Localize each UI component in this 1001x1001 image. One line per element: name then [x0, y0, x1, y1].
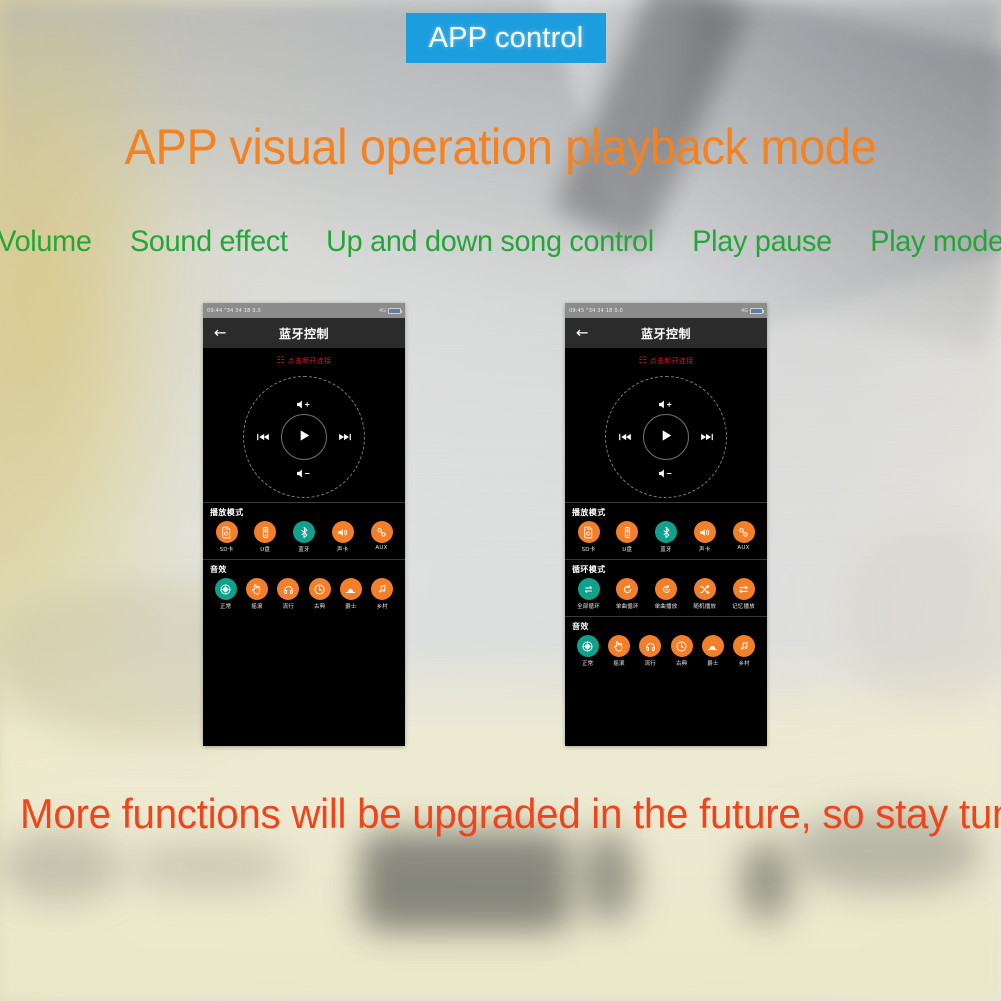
- mode-option-label: 正常: [220, 602, 231, 610]
- mode-option-label: 单曲播放: [655, 602, 678, 610]
- next-track-button[interactable]: [700, 432, 714, 442]
- mode-option[interactable]: 蓝牙: [288, 521, 321, 553]
- mode-option[interactable]: 古典: [666, 635, 697, 667]
- status-bar: 09:45 "34 34 18 0.04G: [565, 303, 767, 318]
- mode-option[interactable]: SD卡: [572, 521, 605, 553]
- mode-option-label: 古典: [676, 659, 687, 667]
- rock-icon[interactable]: [246, 578, 268, 600]
- play-mode-section: 播放模式SD卡U盘蓝牙声卡AUX: [203, 502, 405, 559]
- play-pause-button[interactable]: [297, 428, 312, 446]
- footnote-text: More functions will be upgraded in the f…: [20, 790, 1001, 837]
- pop-icon[interactable]: [277, 578, 299, 600]
- jazz-icon[interactable]: [702, 635, 724, 657]
- country-icon[interactable]: [371, 578, 393, 600]
- sound-card-icon[interactable]: [694, 521, 716, 543]
- mode-option-label: 流行: [645, 659, 656, 667]
- mode-option[interactable]: U盘: [611, 521, 644, 553]
- footnote: More functions will be upgraded in the f…: [20, 790, 981, 838]
- sound-effect-section: 音效正常摇滚流行古典爵士乡村: [203, 559, 405, 616]
- aux-cable-icon[interactable]: [733, 521, 755, 543]
- sd-card-icon[interactable]: [578, 521, 600, 543]
- mode-option[interactable]: 蓝牙: [650, 521, 683, 553]
- aux-cable-icon[interactable]: [371, 521, 393, 543]
- mode-option-label: 声卡: [337, 545, 348, 553]
- mode-option-label: SD卡: [220, 545, 234, 553]
- bluetooth-icon: ☷: [639, 357, 647, 366]
- app-control-badge-label: APP control: [429, 22, 584, 55]
- mode-option-label: AUX: [375, 545, 387, 551]
- icon-row: 全部循环单曲循环单曲播放随机播放记忆播放: [572, 578, 760, 610]
- app-bar: ←蓝牙控制: [203, 318, 405, 348]
- section-title: 播放模式: [572, 507, 760, 518]
- rock-icon[interactable]: [608, 635, 630, 657]
- feature-item: Sound effect: [130, 225, 288, 259]
- status-bar-time: 09:44 "34 34 18 0.0: [207, 308, 261, 314]
- mode-option[interactable]: 乡村: [729, 635, 760, 667]
- mode-option-label: AUX: [737, 545, 749, 551]
- mode-option[interactable]: SD卡: [210, 521, 243, 553]
- mode-option-label: U盘: [622, 545, 632, 553]
- mode-option[interactable]: 爵士: [697, 635, 728, 667]
- mode-option[interactable]: 摇滚: [603, 635, 634, 667]
- back-arrow-icon[interactable]: ←: [214, 326, 227, 341]
- playback-dial: [565, 374, 767, 502]
- dial-outer-ring: [243, 376, 365, 498]
- mode-option-label: 全部循环: [577, 602, 600, 610]
- sound-effect-section: 音效正常摇滚流行古典爵士乡村: [565, 616, 767, 673]
- mode-option-label: SD卡: [582, 545, 596, 553]
- jazz-icon[interactable]: [340, 578, 362, 600]
- mode-option-label: 记忆播放: [732, 602, 755, 610]
- section-title: 音效: [210, 564, 398, 575]
- country-icon[interactable]: [733, 635, 755, 657]
- play-single-icon[interactable]: [655, 578, 677, 600]
- app-bar: ←蓝牙控制: [565, 318, 767, 348]
- feature-item: Play pause: [692, 225, 832, 259]
- back-arrow-icon[interactable]: ←: [576, 326, 589, 341]
- usb-drive-icon[interactable]: [254, 521, 276, 543]
- mode-option-label: 蓝牙: [298, 545, 309, 553]
- mode-option[interactable]: 摇滚: [241, 578, 272, 610]
- dial-outer-ring: [605, 376, 727, 498]
- mode-option[interactable]: 乡村: [367, 578, 398, 610]
- phone-mockup-right: 09:45 "34 34 18 0.04G←蓝牙控制☷点击断开连接播放模式SD卡…: [565, 303, 767, 746]
- repeat-all-icon[interactable]: [578, 578, 600, 600]
- mode-option[interactable]: 爵士: [335, 578, 366, 610]
- mode-option-label: 正常: [582, 659, 593, 667]
- mode-option[interactable]: 随机播放: [688, 578, 721, 610]
- app-control-badge: APP control: [406, 13, 606, 63]
- mode-option[interactable]: 单曲播放: [650, 578, 683, 610]
- connection-status[interactable]: ☷点击断开连接: [203, 348, 405, 374]
- previous-track-button[interactable]: [256, 432, 270, 442]
- feature-item: Volume: [0, 225, 92, 259]
- feature-item: Up and down song control: [326, 225, 654, 259]
- usb-drive-icon[interactable]: [616, 521, 638, 543]
- icon-row: 正常摇滚流行古典爵士乡村: [210, 578, 398, 610]
- section-title: 播放模式: [210, 507, 398, 518]
- play-pause-button[interactable]: [659, 428, 674, 446]
- phone-mockup-left: 09:44 "34 34 18 0.04G←蓝牙控制☷点击断开连接播放模式SD卡…: [203, 303, 405, 746]
- mode-option[interactable]: 声卡: [326, 521, 359, 553]
- bluetooth-icon: ☷: [277, 357, 285, 366]
- connection-status-text: 点击断开连接: [650, 356, 694, 366]
- normal-icon[interactable]: [215, 578, 237, 600]
- bluetooth-icon[interactable]: [293, 521, 315, 543]
- mode-option-label: 流行: [283, 602, 294, 610]
- mode-option-label: 爵士: [707, 659, 718, 667]
- app-bar-title: 蓝牙控制: [203, 325, 405, 342]
- loop-mode-section: 循环模式全部循环单曲循环单曲播放随机播放记忆播放: [565, 559, 767, 616]
- mode-option-label: U盘: [260, 545, 270, 553]
- mode-option-label: 蓝牙: [660, 545, 671, 553]
- shuffle-icon[interactable]: [694, 578, 716, 600]
- play-mode-section: 播放模式SD卡U盘蓝牙声卡AUX: [565, 502, 767, 559]
- volume-down-button[interactable]: [658, 468, 674, 479]
- mode-option[interactable]: 声卡: [688, 521, 721, 553]
- mode-option-label: 古典: [314, 602, 325, 610]
- mode-option-label: 摇滚: [251, 602, 262, 610]
- app-bar-title: 蓝牙控制: [565, 325, 767, 342]
- bluetooth-icon[interactable]: [655, 521, 677, 543]
- icon-row: SD卡U盘蓝牙声卡AUX: [210, 521, 398, 553]
- connection-status[interactable]: ☷点击断开连接: [565, 348, 767, 374]
- battery-icon: [388, 308, 401, 314]
- status-bar-time: 09:45 "34 34 18 0.0: [569, 308, 623, 314]
- mode-option-label: 乡村: [739, 659, 750, 667]
- mode-option-label: 声卡: [699, 545, 710, 553]
- mode-option[interactable]: AUX: [727, 521, 760, 551]
- normal-icon[interactable]: [577, 635, 599, 657]
- feature-list: VolumeSound effectUp and down song contr…: [20, 225, 981, 259]
- mode-option[interactable]: 正常: [572, 635, 603, 667]
- status-bar: 09:44 "34 34 18 0.04G: [203, 303, 405, 318]
- memory-play-icon[interactable]: [733, 578, 755, 600]
- section-title: 音效: [572, 621, 760, 632]
- volume-down-button[interactable]: [296, 468, 312, 479]
- volume-up-button[interactable]: [296, 399, 312, 410]
- next-track-button[interactable]: [338, 432, 352, 442]
- icon-row: 正常摇滚流行古典爵士乡村: [572, 635, 760, 667]
- mode-option-label: 乡村: [377, 602, 388, 610]
- sound-card-icon[interactable]: [332, 521, 354, 543]
- mode-option[interactable]: 单曲循环: [611, 578, 644, 610]
- classical-icon[interactable]: [309, 578, 331, 600]
- signal-icon: 4G: [379, 308, 386, 314]
- mode-option[interactable]: 正常: [210, 578, 241, 610]
- mode-option-label: 单曲循环: [616, 602, 639, 610]
- sd-card-icon[interactable]: [216, 521, 238, 543]
- feature-item: Play mode: [870, 225, 1001, 259]
- mode-option-label: 摇滚: [613, 659, 624, 667]
- page-title: APP visual operation playback mode: [30, 118, 971, 176]
- mode-option[interactable]: 记忆播放: [727, 578, 760, 610]
- icon-row: SD卡U盘蓝牙声卡AUX: [572, 521, 760, 553]
- pop-icon[interactable]: [639, 635, 661, 657]
- connection-status-text: 点击断开连接: [288, 356, 332, 366]
- mode-option[interactable]: 全部循环: [572, 578, 605, 610]
- playback-dial: [203, 374, 405, 502]
- signal-icon: 4G: [741, 308, 748, 314]
- mode-option[interactable]: 流行: [273, 578, 304, 610]
- classical-icon[interactable]: [671, 635, 693, 657]
- mode-option[interactable]: 古典: [304, 578, 335, 610]
- volume-up-button[interactable]: [658, 399, 674, 410]
- battery-icon: [750, 308, 763, 314]
- mode-option[interactable]: AUX: [365, 521, 398, 551]
- mode-option-label: 随机播放: [693, 602, 716, 610]
- mode-option[interactable]: U盘: [249, 521, 282, 553]
- mode-option-label: 爵士: [345, 602, 356, 610]
- section-title: 循环模式: [572, 564, 760, 575]
- previous-track-button[interactable]: [618, 432, 632, 442]
- repeat-one-icon[interactable]: [616, 578, 638, 600]
- page-title-text: APP visual operation playback mode: [125, 119, 877, 175]
- mode-option[interactable]: 流行: [635, 635, 666, 667]
